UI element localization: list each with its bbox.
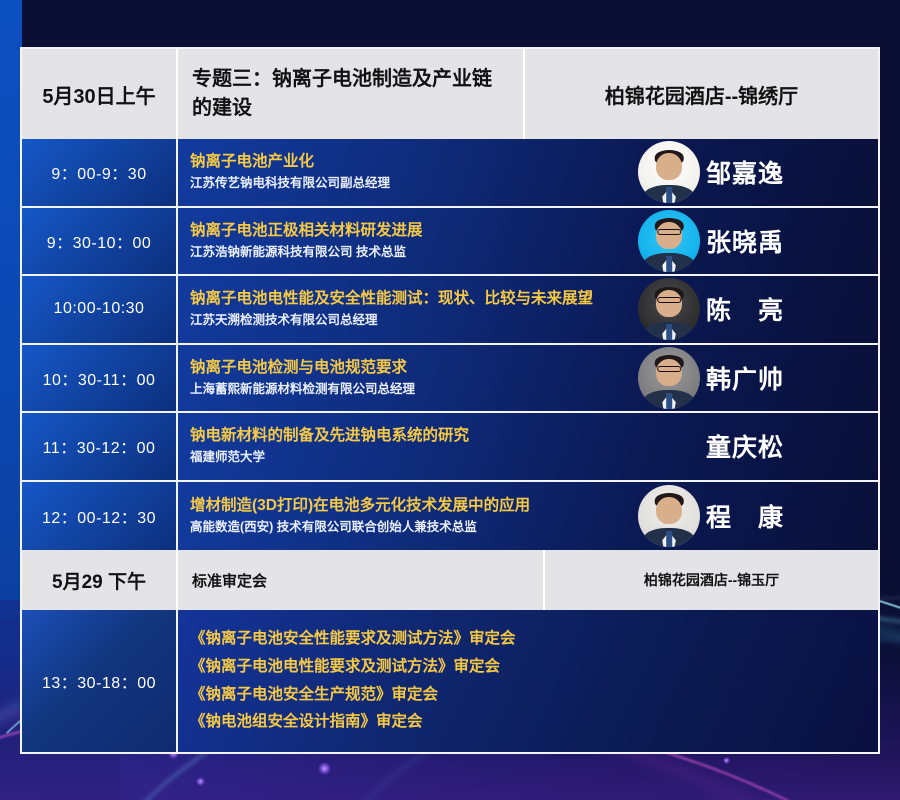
session-affiliation: 福建师范大学 [190, 449, 638, 466]
session-body: 钠离子电池产业化江苏传艺钠电科技有限公司副总经理邹嘉逸 [178, 139, 878, 206]
session-info: 钠离子电池正极相关材料研发进展江苏浩钠新能源科技有限公司 技术总监 [178, 221, 638, 261]
session-time: 10：30-11：00 [22, 345, 178, 412]
avatar-face [656, 290, 682, 317]
left-accent-bar [0, 0, 22, 620]
speaker-name: 童庆松 [706, 428, 784, 464]
schedule-table: 5月30日上午 专题三：钠离子电池制造及产业链的建设 柏锦花园酒店--锦绣厅 9… [20, 47, 880, 754]
glow-dot [723, 757, 730, 764]
speaker-block: 张晓禹 [638, 210, 878, 272]
speaker-avatar [638, 485, 700, 547]
glow-dot [196, 777, 205, 786]
session-row: 11：30-12：00钠电新材料的制备及先进钠电系统的研究福建师范大学童庆松 [22, 413, 878, 482]
header-date: 5月30日上午 [22, 49, 178, 139]
session-row: 9：00-9：30钠离子电池产业化江苏传艺钠电科技有限公司副总经理邹嘉逸 [22, 139, 878, 208]
avatar-face [656, 497, 682, 524]
session-body: 钠电新材料的制备及先进钠电系统的研究福建师范大学童庆松 [178, 413, 878, 480]
avatar-glasses [657, 366, 681, 372]
session-row: 10：30-11：00钠离子电池检测与电池规范要求上海蓄熙新能源材料检测有限公司… [22, 345, 878, 414]
glow-dot [318, 762, 331, 775]
avatar-glasses [657, 297, 681, 303]
standards-list: 《钠离子电池安全性能要求及测试方法》审定会《钠离子电池电性能要求及测试方法》审定… [178, 610, 878, 752]
session-info: 增材制造(3D打印)在电池多元化技术发展中的应用高能数造(西安) 技术有限公司联… [178, 496, 638, 536]
standard-item: 《钠离子电池安全性能要求及测试方法》审定会 [190, 630, 878, 649]
subheader-venue: 柏锦花园酒店--锦玉厅 [545, 550, 878, 610]
session-time: 9：00-9：30 [22, 139, 178, 206]
session-body: 钠离子电池正极相关材料研发进展江苏浩钠新能源科技有限公司 技术总监张晓禹 [178, 208, 878, 275]
session-title: 钠离子电池正极相关材料研发进展 [190, 221, 638, 241]
standard-item: 《钠离子电池电性能要求及测试方法》审定会 [190, 658, 878, 677]
session-info: 钠电新材料的制备及先进钠电系统的研究福建师范大学 [178, 426, 638, 466]
session-affiliation: 江苏天溯检测技术有限公司总经理 [190, 312, 638, 329]
speaker-name: 张晓禹 [706, 223, 784, 259]
avatar-tie [666, 256, 672, 272]
session-title: 钠离子电池产业化 [190, 152, 638, 172]
speaker-block: 程 康 [638, 485, 878, 547]
avatar-tie [666, 531, 672, 547]
table-header-sub: 5月29 下午 标准审定会 柏锦花园酒店--锦玉厅 [22, 550, 878, 610]
standard-item: 《钠电池组安全设计指南》审定会 [190, 713, 878, 732]
speaker-name: 程 康 [706, 498, 784, 534]
speaker-block: 韩广帅 [638, 347, 878, 409]
avatar-face [656, 153, 682, 180]
speaker-avatar [638, 347, 700, 409]
session-time: 11：30-12：00 [22, 413, 178, 480]
subheader-date: 5月29 下午 [22, 550, 178, 610]
table-header-main: 5月30日上午 专题三：钠离子电池制造及产业链的建设 柏锦花园酒店--锦绣厅 [22, 49, 878, 139]
avatar-face [656, 222, 682, 249]
session-title: 钠离子电池检测与电池规范要求 [190, 358, 638, 378]
session-info: 钠离子电池电性能及安全性能测试：现状、比较与未来展望江苏天溯检测技术有限公司总经… [178, 289, 638, 329]
session-row: 9：30-10：00钠离子电池正极相关材料研发进展江苏浩钠新能源科技有限公司 技… [22, 208, 878, 277]
session-list: 9：00-9：30钠离子电池产业化江苏传艺钠电科技有限公司副总经理邹嘉逸9：30… [22, 139, 878, 550]
header-topic: 专题三：钠离子电池制造及产业链的建设 [178, 49, 525, 139]
avatar-tie [666, 324, 672, 340]
speaker-name: 邹嘉逸 [706, 154, 784, 190]
session-time: 12：00-12：30 [22, 482, 178, 551]
session-affiliation: 江苏浩钠新能源科技有限公司 技术总监 [190, 244, 638, 261]
session-body: 增材制造(3D打印)在电池多元化技术发展中的应用高能数造(西安) 技术有限公司联… [178, 482, 878, 551]
standards-time: 13：30-18：00 [22, 610, 178, 752]
speaker-name: 陈 亮 [706, 291, 784, 327]
session-body: 钠离子电池电性能及安全性能测试：现状、比较与未来展望江苏天溯检测技术有限公司总经… [178, 276, 878, 343]
speaker-name: 韩广帅 [706, 360, 784, 396]
session-affiliation: 上海蓄熙新能源材料检测有限公司总经理 [190, 381, 638, 398]
session-affiliation: 江苏传艺钠电科技有限公司副总经理 [190, 175, 638, 192]
session-title: 增材制造(3D打印)在电池多元化技术发展中的应用 [190, 496, 638, 516]
session-affiliation: 高能数造(西安) 技术有限公司联合创始人兼技术总监 [190, 519, 638, 536]
header-venue: 柏锦花园酒店--锦绣厅 [525, 49, 878, 139]
session-row: 12：00-12：30增材制造(3D打印)在电池多元化技术发展中的应用高能数造(… [22, 482, 878, 551]
speaker-block: 陈 亮 [638, 278, 878, 340]
standard-item: 《钠离子电池安全生产规范》审定会 [190, 686, 878, 705]
session-row: 10:00-10:30钠离子电池电性能及安全性能测试：现状、比较与未来展望江苏天… [22, 276, 878, 345]
session-body: 钠离子电池检测与电池规范要求上海蓄熙新能源材料检测有限公司总经理韩广帅 [178, 345, 878, 412]
avatar-tie [666, 393, 672, 409]
avatar-tie [666, 187, 672, 203]
speaker-avatar [638, 278, 700, 340]
session-title: 钠电新材料的制备及先进钠电系统的研究 [190, 426, 638, 446]
session-title: 钠离子电池电性能及安全性能测试：现状、比较与未来展望 [190, 289, 638, 309]
session-info: 钠离子电池检测与电池规范要求上海蓄熙新能源材料检测有限公司总经理 [178, 358, 638, 398]
session-time: 9：30-10：00 [22, 208, 178, 275]
speaker-block: 邹嘉逸 [638, 141, 878, 203]
session-time: 10:00-10:30 [22, 276, 178, 343]
speaker-avatar [638, 141, 700, 203]
session-info: 钠离子电池产业化江苏传艺钠电科技有限公司副总经理 [178, 152, 638, 192]
avatar-face [656, 359, 682, 386]
standards-row: 13：30-18：00 《钠离子电池安全性能要求及测试方法》审定会《钠离子电池电… [22, 610, 878, 752]
avatar-glasses [657, 229, 681, 235]
speaker-avatar [638, 210, 700, 272]
speaker-block: 童庆松 [638, 415, 878, 477]
subheader-topic: 标准审定会 [178, 550, 545, 610]
